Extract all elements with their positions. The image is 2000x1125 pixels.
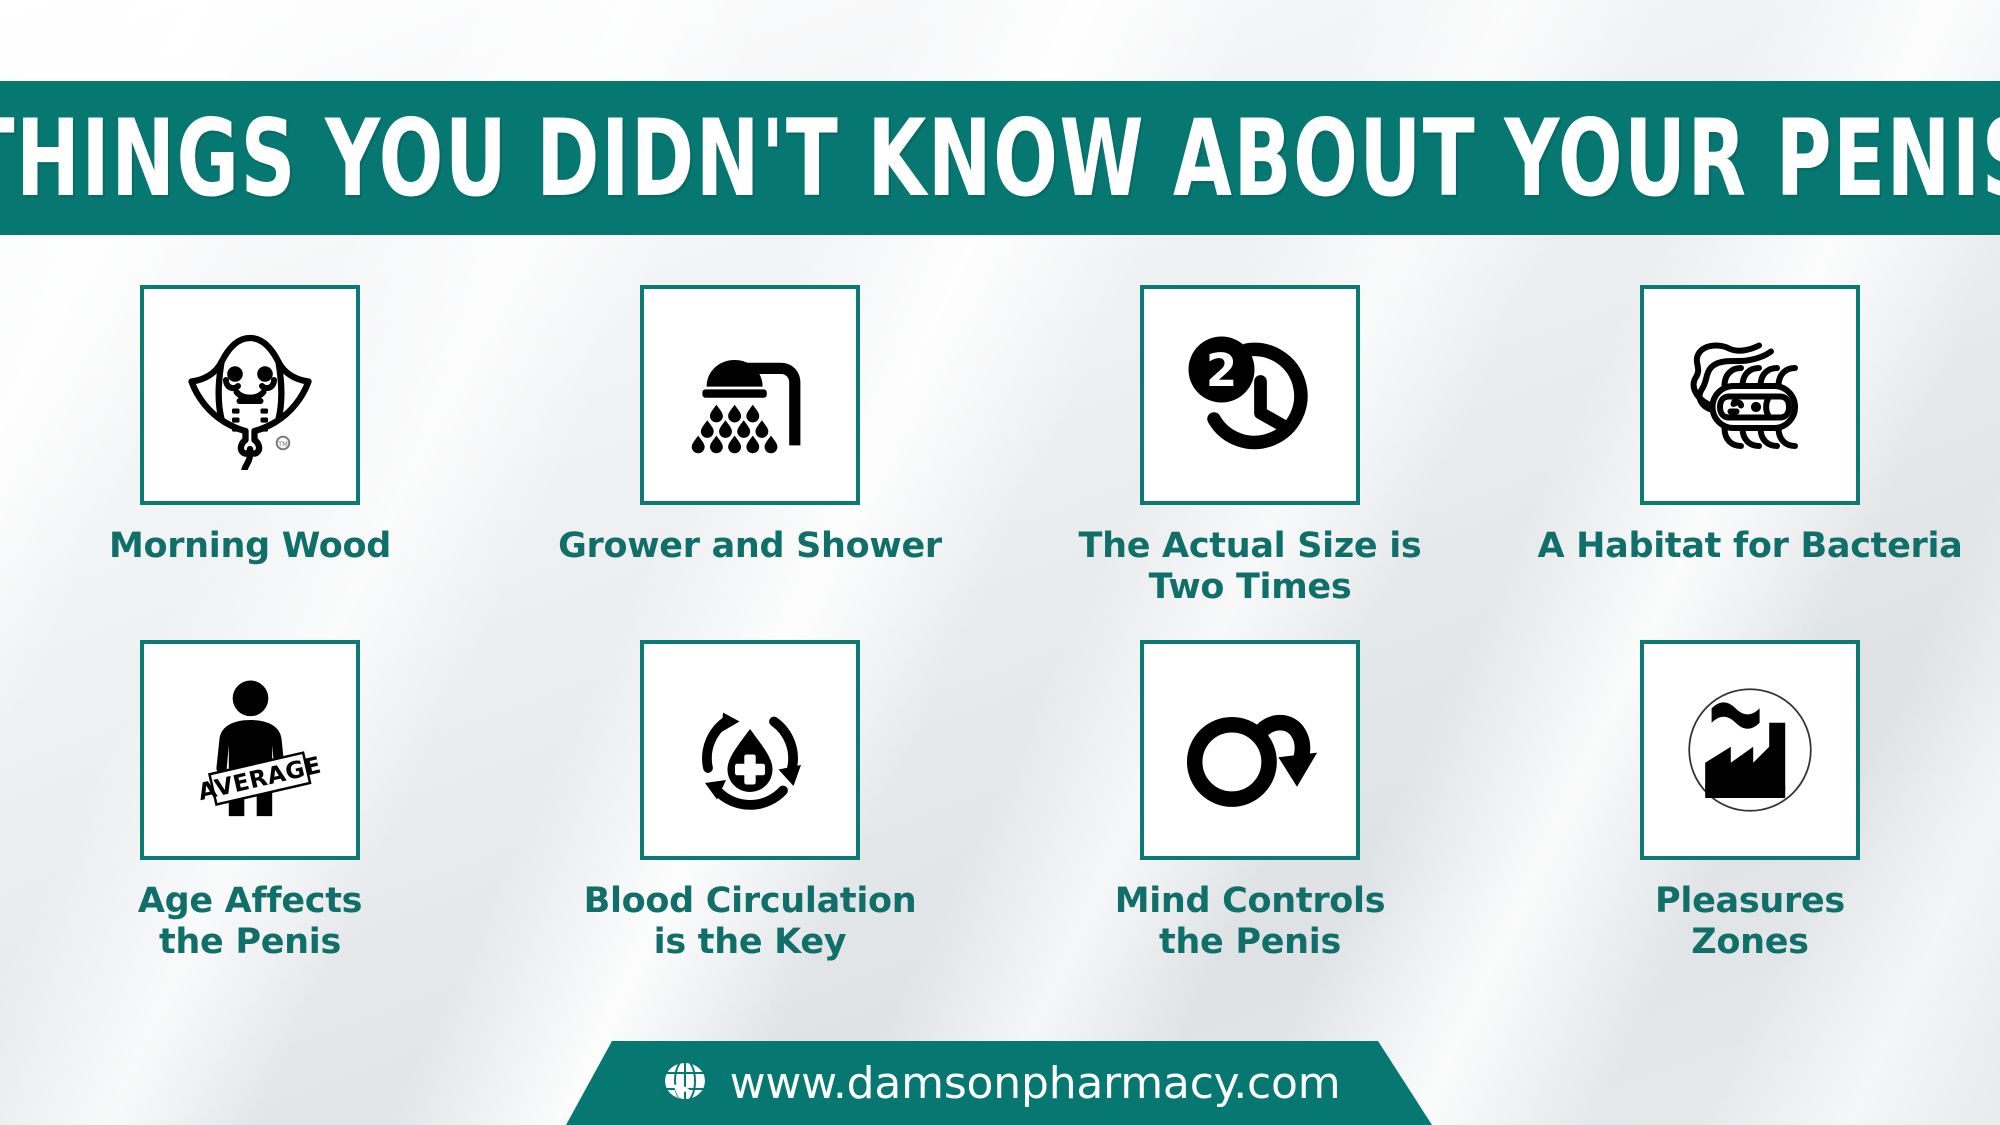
fact-card-pleasures-zones[interactable]: Pleasures Zones <box>1500 640 2000 963</box>
person-average-tag-icon: AVERAGE <box>173 672 328 827</box>
fact-label: The Actual Size is Two Times <box>1079 526 1422 608</box>
icon-box: AVERAGE <box>140 640 360 860</box>
fact-card-blood-circulation[interactable]: Blood Circulation is the Key <box>500 640 1000 963</box>
icon-box <box>1640 285 1860 505</box>
clock-badge-number: 2 <box>1206 344 1237 397</box>
fact-label: Mind Controls the Penis <box>1115 881 1386 963</box>
fact-label: Pleasures Zones <box>1655 881 1845 963</box>
fact-card-mind-controls[interactable]: Mind Controls the Penis <box>1000 640 1500 963</box>
icon-box <box>640 285 860 505</box>
bacteria-icon <box>1675 320 1825 470</box>
fact-label: Grower and Shower <box>558 526 942 567</box>
factory-circle-icon <box>1670 670 1830 830</box>
fact-card-morning-wood[interactable]: TM Morning Wood <box>0 285 500 608</box>
stingray-icon: TM <box>175 320 325 470</box>
fact-card-grower-and-shower[interactable]: Grower and Shower <box>500 285 1000 608</box>
fact-card-age-affects[interactable]: AVERAGE Age Affects the Penis <box>0 640 500 963</box>
blood-drop-circulation-icon <box>675 675 825 825</box>
fact-card-actual-size[interactable]: 2 The Actual Size is Two Times <box>1000 285 1500 608</box>
globe-icon <box>660 1056 710 1111</box>
fact-label: Age Affects the Penis <box>138 881 362 963</box>
icon-box <box>1140 640 1360 860</box>
fact-label: Blood Circulation is the Key <box>584 881 917 963</box>
icon-box: TM <box>140 285 360 505</box>
infographic-poster: THINGS YOU DIDN'T KNOW ABOUT YOUR PENIS <box>0 0 2000 1125</box>
icon-box: 2 <box>1140 285 1360 505</box>
fact-label: A Habitat for Bacteria <box>1537 526 1962 567</box>
clock-two-hours-icon: 2 <box>1175 320 1325 470</box>
male-symbol-arrow-icon <box>1173 672 1328 827</box>
svg-text:TM: TM <box>277 440 288 448</box>
icon-box <box>640 640 860 860</box>
footer-url-bar[interactable]: www.damsonpharmacy.com <box>560 1041 1440 1125</box>
fact-label: Morning Wood <box>109 526 391 567</box>
shower-icon <box>680 325 820 465</box>
title-banner: THINGS YOU DIDN'T KNOW ABOUT YOUR PENIS <box>0 81 2000 235</box>
page-title: THINGS YOU DIDN'T KNOW ABOUT YOUR PENIS <box>0 105 2000 211</box>
icon-box <box>1640 640 1860 860</box>
facts-grid: TM Morning Wood <box>0 285 2000 963</box>
fact-card-habitat-for-bacteria[interactable]: A Habitat for Bacteria <box>1500 285 2000 608</box>
footer-url-text[interactable]: www.damsonpharmacy.com <box>730 1058 1341 1109</box>
